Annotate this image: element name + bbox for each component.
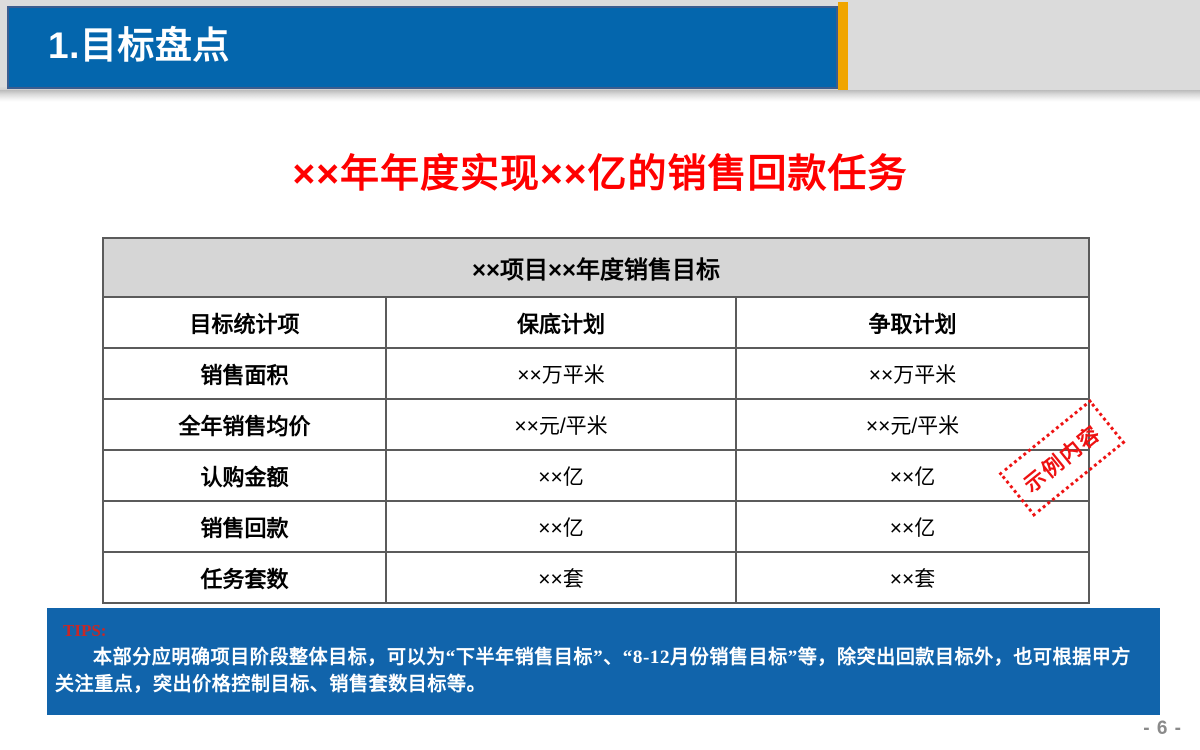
table-title-row: ××项目××年度销售目标: [103, 238, 1089, 297]
cell-baseline: ××套: [386, 552, 736, 603]
tips-body: 本部分应明确项目阶段整体目标，可以为“下半年销售目标”、“8-12月份销售目标”…: [55, 644, 1142, 698]
row-label: 全年销售均价: [103, 399, 386, 450]
table-title: ××项目××年度销售目标: [103, 238, 1089, 297]
cell-target: ××套: [736, 552, 1089, 603]
cell-baseline: ××亿: [386, 450, 736, 501]
column-header-baseline: 保底计划: [386, 297, 736, 348]
slide-root: 1.目标盘点 ××年年度实现××亿的销售回款任务 ××项目××年度销售目标 目标…: [0, 0, 1200, 750]
cell-target: ××万平米: [736, 348, 1089, 399]
tips-box: TIPS: 本部分应明确项目阶段整体目标，可以为“下半年销售目标”、“8-12月…: [47, 608, 1160, 715]
table-row: 销售回款 ××亿 ××亿: [103, 501, 1089, 552]
header-gray-fill: [847, 0, 1200, 90]
sales-goal-table: ××项目××年度销售目标 目标统计项 保底计划 争取计划 销售面积 ××万平米 …: [102, 237, 1090, 604]
page-number: - 6 -: [1143, 718, 1182, 740]
row-label: 销售回款: [103, 501, 386, 552]
table-row: 销售面积 ××万平米 ××万平米: [103, 348, 1089, 399]
table-row: 认购金额 ××亿 ××亿: [103, 450, 1089, 501]
row-label: 任务套数: [103, 552, 386, 603]
tips-label: TIPS:: [63, 622, 1142, 640]
header-shadow: [0, 90, 1200, 102]
cell-baseline: ××元/平米: [386, 399, 736, 450]
column-header-target: 争取计划: [736, 297, 1089, 348]
column-header-metric: 目标统计项: [103, 297, 386, 348]
table-header-row: 目标统计项 保底计划 争取计划: [103, 297, 1089, 348]
headline-text: ××年年度实现××亿的销售回款任务: [0, 143, 1200, 199]
page-title: 1.目标盘点: [48, 22, 230, 70]
cell-baseline: ××万平米: [386, 348, 736, 399]
row-label: 销售面积: [103, 348, 386, 399]
cell-baseline: ××亿: [386, 501, 736, 552]
table-row: 全年销售均价 ××元/平米 ××元/平米: [103, 399, 1089, 450]
table-row: 任务套数 ××套 ××套: [103, 552, 1089, 603]
row-label: 认购金额: [103, 450, 386, 501]
header-yellow-accent: [838, 2, 848, 90]
